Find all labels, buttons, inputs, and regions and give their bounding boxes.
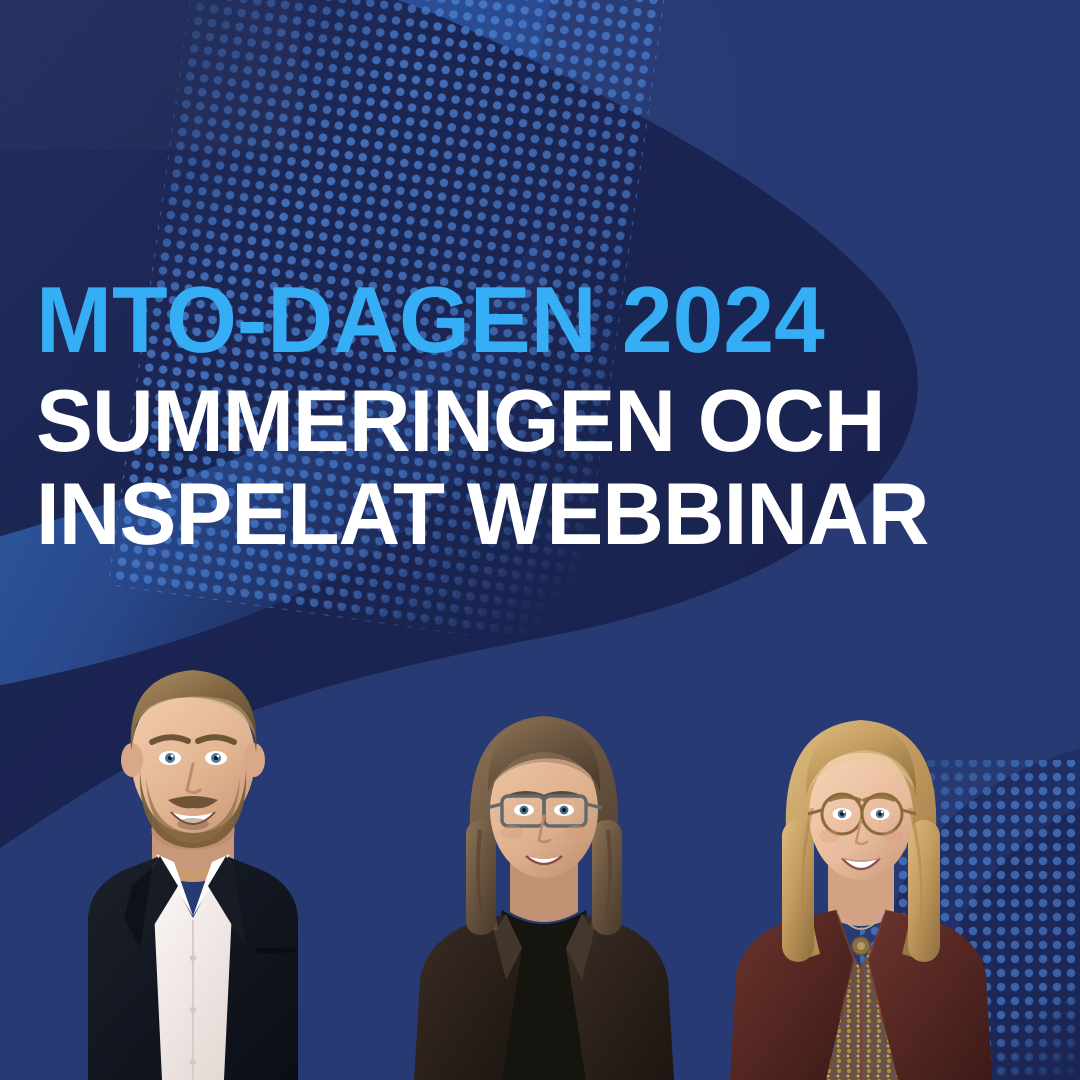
headline-line-2: SUMMERINGEN OCH [36,374,1025,467]
portrait-person-1 [28,618,358,1080]
headline-block: MTO-DAGEN 2024 SUMMERINGEN OCH INSPELAT … [36,272,1056,560]
headline-line-1: MTO-DAGEN 2024 [36,272,1025,368]
speaker-portraits [0,610,1080,1080]
portrait-person-2 [394,680,694,1080]
headline-line-3: INSPELAT WEBBINAR [36,467,1025,560]
poster-canvas: MTO-DAGEN 2024 SUMMERINGEN OCH INSPELAT … [0,0,1080,1080]
portrait-person-3 [716,688,1006,1080]
